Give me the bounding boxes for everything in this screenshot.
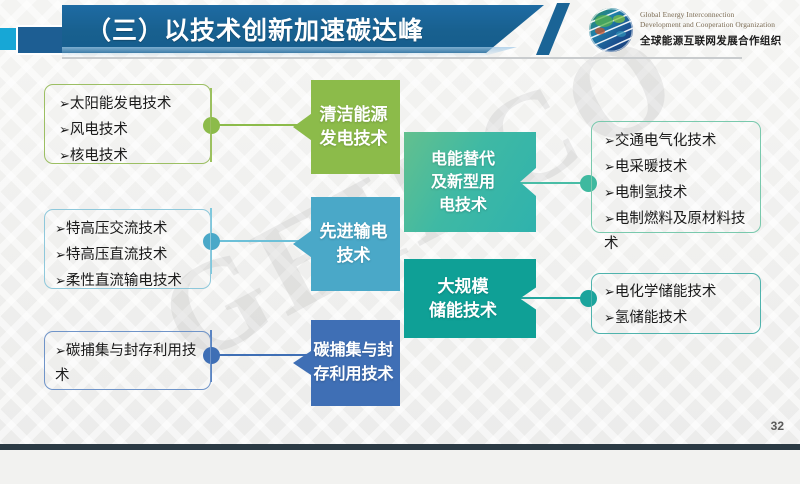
arrow-bullet-icon: ➢ — [604, 159, 615, 174]
list-item: ➢柔性直流输电技术 — [55, 268, 210, 294]
header-slash-decor — [536, 3, 570, 55]
list-item: ➢电制燃料及原材料技术 — [604, 206, 754, 257]
left-node-transmission-sources[interactable]: ➢特高压交流技术 ➢特高压直流技术 ➢柔性直流输电技术 — [44, 209, 211, 289]
arrow-bullet-icon: ➢ — [604, 310, 615, 325]
list-item: ➢核电技术 — [59, 143, 210, 169]
list-item: ➢风电技术 — [59, 117, 210, 143]
header-decor-navy-square — [16, 25, 68, 55]
arrow-bullet-icon: ➢ — [604, 211, 615, 226]
logo-en-line1: Global Energy Interconnection — [640, 10, 800, 20]
arrow-bullet-icon: ➢ — [55, 343, 66, 358]
left-node-ccus-sources[interactable]: ➢碳捕集与封存利用技术 — [44, 331, 211, 390]
page-title: （三）以技术创新加速碳达峰 — [86, 11, 424, 47]
center-node-carbon-capture[interactable]: 碳捕集与封 存利用技术 — [293, 320, 400, 406]
page-number: 32 — [771, 419, 784, 433]
list-item: ➢太阳能发电技术 — [59, 91, 210, 117]
arrow-bullet-icon: ➢ — [604, 284, 615, 299]
mid-node-label: 电能替代 及新型用 电技术 — [431, 148, 509, 217]
slide-bottom-bar — [0, 444, 800, 450]
mid-node-label: 大规模 储能技术 — [429, 275, 511, 323]
center-node-clean-energy-generation[interactable]: 清洁能源 发电技术 — [293, 80, 400, 174]
list-item: ➢特高压直流技术 — [55, 242, 210, 268]
header-title-banner-reflection — [62, 47, 517, 57]
list-item: ➢特高压交流技术 — [55, 216, 210, 242]
left-node-clean-energy-sources[interactable]: ➢太阳能发电技术 ➢风电技术 ➢核电技术 — [44, 84, 211, 164]
arrow-bullet-icon: ➢ — [59, 96, 70, 111]
logo-cn-name: 全球能源互联网发展合作组织 — [640, 33, 800, 48]
logo-en-line2: Development and Cooperation Organization — [640, 20, 800, 30]
arrow-bullet-icon: ➢ — [59, 148, 70, 163]
list-item: ➢电制氢技术 — [604, 180, 754, 206]
mid-node-electricity-substitution[interactable]: 电能替代 及新型用 电技术 — [404, 132, 536, 232]
slide-canvas: GEIDCO （三）以技术创新加速碳达峰 — [0, 0, 800, 450]
list-item: ➢氢储能技术 — [604, 305, 754, 331]
right-node-electricity-substitution-items[interactable]: ➢交通电气化技术 ➢电采暖技术 ➢电制氢技术 ➢电制燃料及原材料技术 — [591, 121, 761, 233]
center-node-label: 清洁能源 发电技术 — [306, 103, 388, 151]
arrow-bullet-icon: ➢ — [604, 185, 615, 200]
list-item: ➢电化学储能技术 — [604, 279, 754, 305]
connector-lblue-h — [211, 240, 311, 242]
arrow-bullet-icon: ➢ — [55, 273, 66, 288]
center-node-label: 碳捕集与封 存利用技术 — [299, 339, 393, 387]
list-item: ➢交通电气化技术 — [604, 128, 754, 154]
right-node-storage-items[interactable]: ➢电化学储能技术 ➢氢储能技术 — [591, 273, 761, 334]
mid-node-large-scale-storage[interactable]: 大规模 储能技术 — [404, 259, 536, 338]
arrow-bullet-icon: ➢ — [59, 122, 70, 137]
arrow-bullet-icon: ➢ — [55, 221, 66, 236]
arrow-bullet-icon: ➢ — [604, 133, 615, 148]
list-item: ➢碳捕集与封存利用技术 — [55, 338, 202, 389]
header-underline — [62, 57, 742, 59]
connector-blue-h — [211, 354, 311, 356]
logo-text-block: Global Energy Interconnection Developmen… — [640, 10, 800, 48]
slide-header: （三）以技术创新加速碳达峰 — [0, 0, 800, 62]
globe-logo-icon — [588, 7, 634, 53]
arrow-bullet-icon: ➢ — [55, 247, 66, 262]
list-item: ➢电采暖技术 — [604, 154, 754, 180]
center-node-advanced-transmission[interactable]: 先进输电 技术 — [293, 197, 400, 291]
center-node-label: 先进输电 技术 — [306, 220, 388, 268]
